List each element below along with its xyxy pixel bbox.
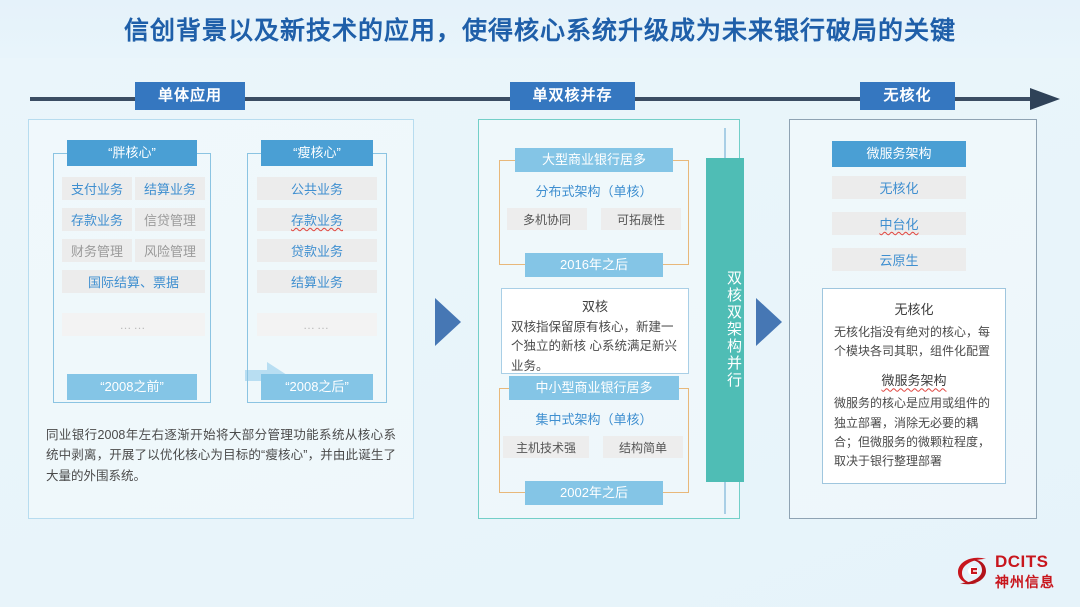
- fat-core-item: 财务管理: [62, 239, 132, 262]
- coreless-item: 云原生: [832, 248, 966, 271]
- fat-core-ellipsis: ……: [62, 313, 205, 336]
- fat-core-item: 风险管理: [135, 239, 205, 262]
- teal-bar-tick-bottom: [724, 482, 726, 514]
- dual-core-card-body: 双核指保留原有核心，新建一个独立的新核 心系统满足新兴业务。: [511, 318, 679, 376]
- fat-core-item: 结算业务: [135, 177, 205, 200]
- coreless-item-label: 中台化: [879, 214, 918, 233]
- logo-text-en: DCITS: [995, 552, 1049, 572]
- company-logo: DCITS 神州信息: [955, 550, 1067, 596]
- thin-core-header: “瘦核心”: [261, 140, 373, 166]
- thin-core-item-label: 公共业务: [291, 179, 343, 198]
- large-bank-subtitle: 分布式架构（单核）: [515, 180, 673, 200]
- thin-core-item: 结算业务: [257, 270, 377, 293]
- fat-core-item: 信贷管理: [135, 208, 205, 231]
- thin-core-item: 公共业务: [257, 177, 377, 200]
- small-bank-tag: 主机技术强: [503, 436, 589, 458]
- stage-timeline: 单体应用 单双核并存 无核化: [30, 88, 1060, 110]
- small-bank-subtitle: 集中式架构（单核）: [515, 408, 673, 428]
- fat-core-item: 存款业务: [62, 208, 132, 231]
- large-bank-footer: 2016年之后: [525, 253, 663, 277]
- fat-core-footer: “2008之前”: [67, 374, 197, 400]
- large-bank-header: 大型商业银行居多: [515, 148, 673, 172]
- coreless-card-title-1: 无核化: [834, 299, 994, 318]
- coreless-card-title-2: 微服务架构: [834, 370, 994, 389]
- coreless-card-title-2-label: 微服务架构: [881, 373, 946, 388]
- thin-core-footer: “2008之后”: [261, 374, 373, 400]
- logo-text-cn: 神州信息: [995, 572, 1055, 592]
- timeline-arrow-icon: [1030, 88, 1060, 110]
- microservice-header: 微服务架构: [832, 141, 966, 167]
- thin-core-item-label: 存款业务: [291, 210, 343, 229]
- thin-core-item: 贷款业务: [257, 239, 377, 262]
- coreless-card-body-2: 微服务的核心是应用或组件的独立部署，消除无必要的耦合；但微服务的微颗粒程度，取决…: [834, 394, 994, 471]
- thin-core-item: 存款业务: [257, 208, 377, 231]
- fat-core-header: “胖核心”: [67, 140, 197, 166]
- small-bank-tag: 结构简单: [603, 436, 683, 458]
- dual-core-card: 双核 双核指保留原有核心，新建一个独立的新核 心系统满足新兴业务。: [501, 288, 689, 374]
- dcits-swirl-icon: [955, 553, 991, 589]
- coreless-card-body-1: 无核化指没有绝对的核心，每个模块各司其职，组件化配置: [834, 323, 994, 361]
- dual-core-parallel-bar: 双核双架构并行: [706, 158, 744, 482]
- coreless-item-label: 云原生: [879, 250, 918, 269]
- thin-core-item-label: 贷款业务: [291, 241, 343, 260]
- page-title: 信创背景以及新技术的应用，使得核心系统升级成为未来银行破局的关键: [124, 11, 956, 47]
- coreless-item-label: 无核化: [879, 178, 918, 197]
- coreless-item: 无核化: [832, 176, 966, 199]
- timeline-stage-1[interactable]: 单体应用: [135, 82, 245, 110]
- large-bank-tag: 可拓展性: [601, 208, 681, 230]
- panel-monolithic-application: “胖核心” “2008之前” 支付业务 结算业务 存款业务 信贷管理 财务管理 …: [28, 119, 414, 519]
- small-bank-header: 中小型商业银行居多: [509, 376, 679, 400]
- timeline-stage-2[interactable]: 单双核并存: [510, 82, 635, 110]
- thin-core-item-label: 结算业务: [291, 272, 343, 291]
- coreless-detail-card: 无核化 无核化指没有绝对的核心，每个模块各司其职，组件化配置 微服务架构 微服务…: [822, 288, 1006, 484]
- slide-root: 信创背景以及新技术的应用，使得核心系统升级成为未来银行破局的关键 单体应用 单双…: [0, 0, 1080, 607]
- timeline-stage-3[interactable]: 无核化: [860, 82, 955, 110]
- panel-arrow-1-icon: [435, 298, 461, 346]
- panel-arrow-2-icon: [756, 298, 782, 346]
- thin-core-ellipsis: ……: [257, 313, 377, 336]
- dual-core-parallel-label: 双核双架构并行: [706, 270, 744, 389]
- slide-title-bar: 信创背景以及新技术的应用，使得核心系统升级成为未来银行破局的关键: [0, 0, 1080, 58]
- fat-core-item: 支付业务: [62, 177, 132, 200]
- dual-core-card-title: 双核: [511, 296, 679, 315]
- large-bank-tag: 多机协同: [507, 208, 587, 230]
- panel-single-dual-core: 大型商业银行居多 分布式架构（单核） 多机协同 可拓展性 2016年之后 双核 …: [478, 119, 740, 519]
- teal-bar-tick-top: [724, 128, 726, 160]
- small-bank-footer: 2002年之后: [525, 481, 663, 505]
- coreless-item: 中台化: [832, 212, 966, 235]
- panel1-description: 同业银行2008年左右逐渐开始将大部分管理功能系统从核心系统中剥离，开展了以优化…: [46, 425, 396, 486]
- fat-core-item-wide: 国际结算、票据: [62, 270, 205, 293]
